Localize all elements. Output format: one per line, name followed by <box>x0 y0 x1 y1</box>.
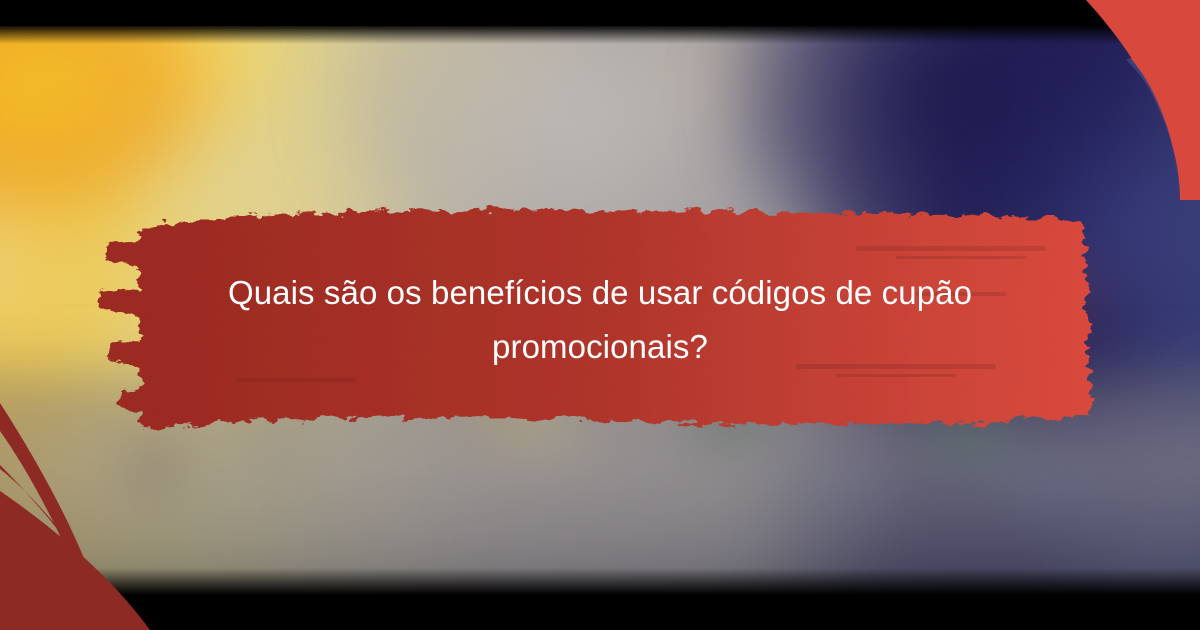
letterbox-bar-bottom <box>0 594 1200 630</box>
letterbox-fade-bottom <box>0 568 1200 594</box>
headline-label: Quais são os benefícios de usar códigos … <box>174 266 1026 374</box>
headline-text: Quais são os benefícios de usar códigos … <box>150 210 1050 430</box>
promo-banner-canvas: Quais são os benefícios de usar códigos … <box>0 0 1200 630</box>
letterbox-fade-top <box>0 26 1200 44</box>
letterbox-bar-top <box>0 0 1200 26</box>
